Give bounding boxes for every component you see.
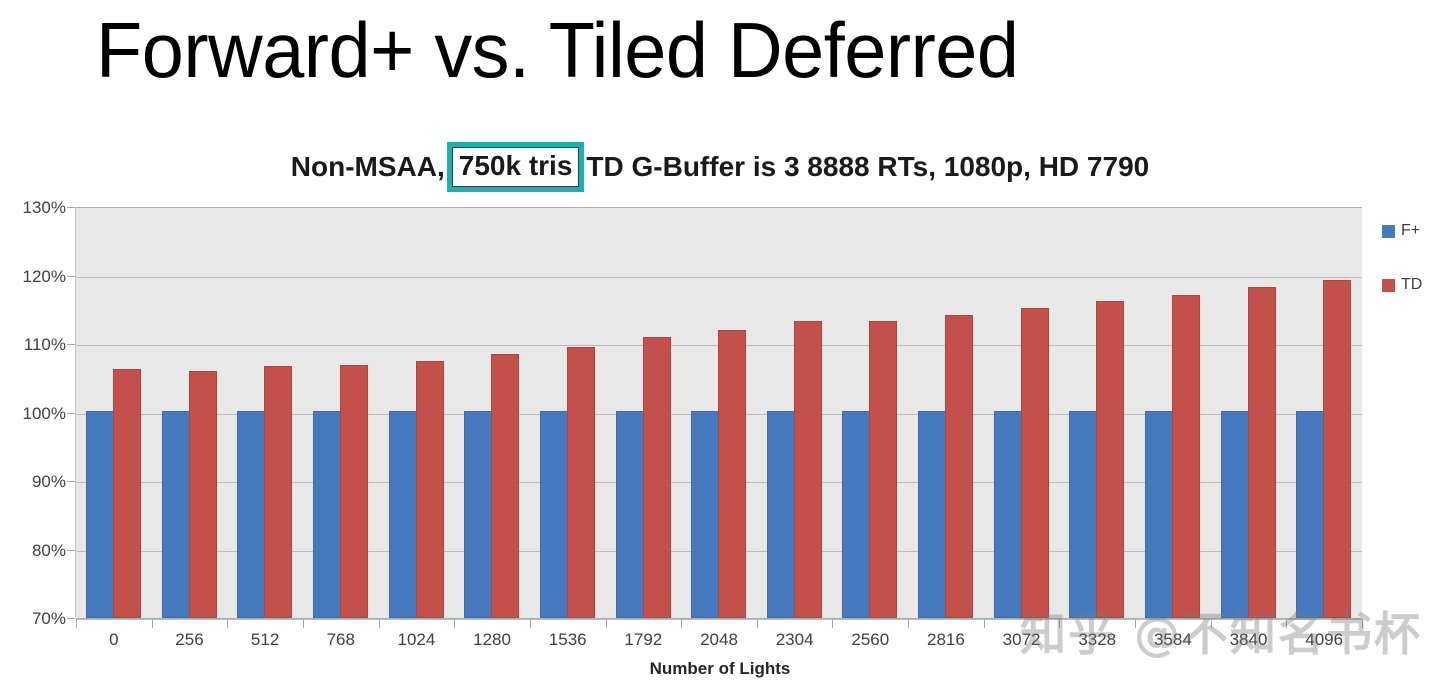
x-tick-mark: [1362, 619, 1363, 628]
y-gridline: [76, 277, 1362, 278]
bar-f-plus[interactable]: [540, 411, 568, 619]
bar-td[interactable]: [264, 366, 292, 618]
y-tick-label: 100%: [6, 404, 66, 424]
bar-f-plus[interactable]: [1221, 411, 1249, 619]
y-tick-mark: [67, 550, 75, 551]
bar-td[interactable]: [1172, 295, 1200, 618]
bar-f-plus[interactable]: [842, 411, 870, 619]
x-tick-label: 256: [149, 630, 229, 650]
y-tick-mark: [67, 618, 75, 619]
bar-f-plus[interactable]: [918, 411, 946, 619]
x-tick-label: 0: [74, 630, 154, 650]
y-tick-label: 80%: [6, 541, 66, 561]
legend-label: F+: [1401, 222, 1420, 240]
x-tick-mark: [908, 619, 909, 628]
y-axis-line: [75, 207, 76, 618]
bar-f-plus[interactable]: [389, 411, 417, 619]
bar-f-plus[interactable]: [86, 411, 114, 619]
y-tick-mark: [67, 207, 75, 208]
x-tick-mark: [303, 619, 304, 628]
bar-chart: 130%120%110%100%90%80%70% 02565127681024…: [0, 196, 1440, 696]
plot-baseline: [76, 618, 1362, 619]
x-tick-mark: [76, 619, 77, 628]
chart-title-highlight: 750k tris: [447, 142, 585, 192]
x-tick-label: 3328: [1057, 630, 1137, 650]
bar-td[interactable]: [869, 321, 897, 618]
x-tick-label: 1792: [603, 630, 683, 650]
bar-f-plus[interactable]: [616, 411, 644, 619]
y-tick-label: 90%: [6, 472, 66, 492]
y-tick-label: 110%: [6, 335, 66, 355]
y-tick-mark: [67, 276, 75, 277]
bar-f-plus[interactable]: [691, 411, 719, 619]
x-tick-mark: [379, 619, 380, 628]
legend-item-td[interactable]: TD: [1382, 274, 1422, 296]
bar-td[interactable]: [491, 354, 519, 618]
x-tick-mark: [1059, 619, 1060, 628]
bar-f-plus[interactable]: [1069, 411, 1097, 619]
bar-f-plus[interactable]: [464, 411, 492, 619]
x-tick-label: 2560: [830, 630, 910, 650]
x-tick-label: 1536: [528, 630, 608, 650]
bar-f-plus[interactable]: [1145, 411, 1173, 619]
bar-td[interactable]: [340, 365, 368, 618]
y-tick-mark: [67, 481, 75, 482]
bar-td[interactable]: [416, 361, 444, 618]
legend-item-f-plus[interactable]: F+: [1382, 220, 1422, 242]
bar-f-plus[interactable]: [313, 411, 341, 619]
x-tick-label: 2048: [679, 630, 759, 650]
x-tick-mark: [984, 619, 985, 628]
y-tick-mark: [67, 344, 75, 345]
bar-td[interactable]: [945, 315, 973, 618]
chart-legend: F+TD: [1382, 220, 1422, 328]
x-tick-label: 768: [301, 630, 381, 650]
x-axis-title: Number of Lights: [0, 659, 1440, 679]
legend-label: TD: [1401, 276, 1422, 294]
y-tick-mark: [67, 413, 75, 414]
x-tick-mark: [1286, 619, 1287, 628]
x-tick-label: 2304: [755, 630, 835, 650]
x-tick-mark: [152, 619, 153, 628]
x-tick-mark: [1135, 619, 1136, 628]
legend-swatch-icon: [1382, 225, 1395, 238]
bar-td[interactable]: [1323, 280, 1351, 618]
bar-f-plus[interactable]: [162, 411, 190, 619]
x-tick-label: 4096: [1284, 630, 1364, 650]
bar-td[interactable]: [567, 347, 595, 618]
x-tick-mark: [832, 619, 833, 628]
x-tick-label: 2816: [906, 630, 986, 650]
y-tick-label: 70%: [6, 609, 66, 629]
x-tick-label: 3584: [1133, 630, 1213, 650]
bar-td[interactable]: [794, 321, 822, 618]
x-tick-mark: [1211, 619, 1212, 628]
x-tick-mark: [681, 619, 682, 628]
x-tick-label: 1280: [452, 630, 532, 650]
x-tick-label: 512: [225, 630, 305, 650]
bar-td[interactable]: [1096, 301, 1124, 618]
chart-title: Non-MSAA,750k trisTD G-Buffer is 3 8888 …: [0, 142, 1440, 192]
x-tick-mark: [530, 619, 531, 628]
bar-f-plus[interactable]: [767, 411, 795, 619]
y-tick-label: 120%: [6, 267, 66, 287]
x-tick-mark: [227, 619, 228, 628]
y-gridline: [76, 619, 1362, 620]
x-tick-label: 3840: [1209, 630, 1289, 650]
bar-td[interactable]: [189, 371, 217, 618]
x-tick-mark: [454, 619, 455, 628]
bar-td[interactable]: [1021, 308, 1049, 618]
legend-swatch-icon: [1382, 279, 1395, 292]
x-tick-label: 3072: [982, 630, 1062, 650]
bar-td[interactable]: [718, 330, 746, 618]
x-tick-mark: [757, 619, 758, 628]
x-tick-label: 1024: [376, 630, 456, 650]
bar-td[interactable]: [1248, 287, 1276, 618]
chart-title-prefix: Non-MSAA,: [291, 151, 445, 183]
bar-td[interactable]: [113, 369, 141, 618]
y-tick-label: 130%: [6, 198, 66, 218]
bar-td[interactable]: [643, 337, 671, 618]
bar-f-plus[interactable]: [237, 411, 265, 619]
bar-f-plus[interactable]: [994, 411, 1022, 619]
bar-f-plus[interactable]: [1296, 411, 1324, 619]
chart-title-suffix: TD G-Buffer is 3 8888 RTs, 1080p, HD 779…: [586, 151, 1149, 183]
x-tick-mark: [606, 619, 607, 628]
page-title: Forward+ vs. Tiled Deferred: [96, 2, 1019, 98]
